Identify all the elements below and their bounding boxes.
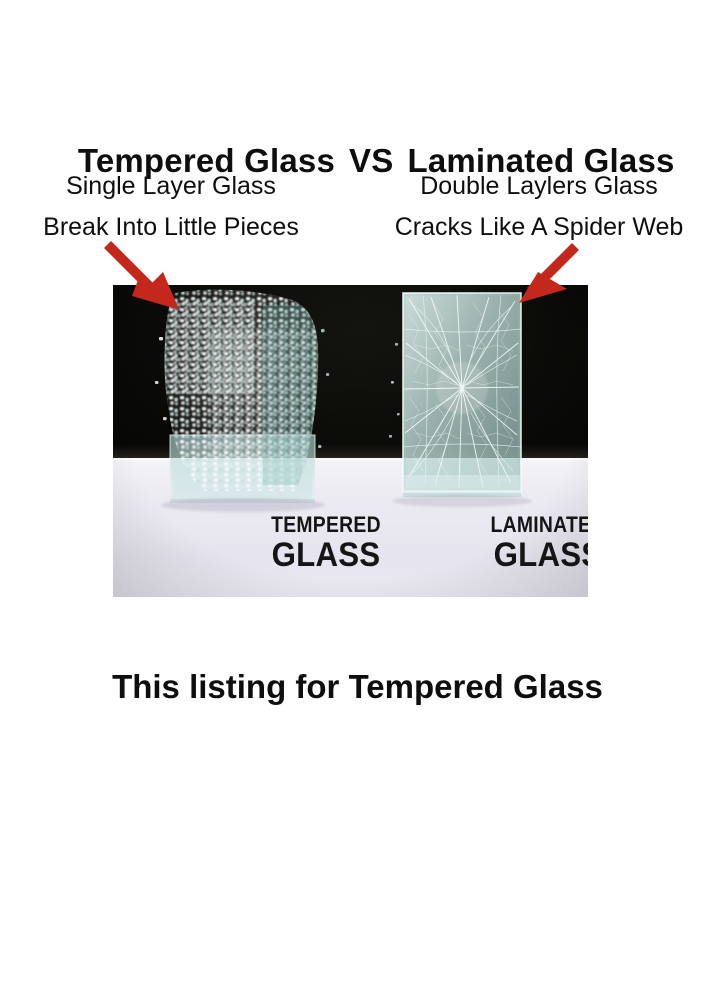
photo-caption-laminated-big: GLASS xyxy=(459,538,588,572)
laminated-loose-specks xyxy=(389,343,400,438)
infographic-page: Tempered GlassVSLaminated Glass Single L… xyxy=(0,0,715,1002)
right-description-line-1: Double Laylers Glass xyxy=(365,166,713,207)
photo-caption-tempered-big: GLASS xyxy=(240,538,411,572)
left-description-line-2: Break Into Little Pieces xyxy=(6,207,336,248)
photo-caption-tempered: TEMPERED GLASS xyxy=(233,513,419,572)
comparison-photo: TEMPERED GLASS LAMINATED GLASS xyxy=(113,285,588,597)
footer-note: This listing for Tempered Glass xyxy=(0,668,715,706)
right-description-block: Double Laylers Glass Cracks Like A Spide… xyxy=(365,166,713,247)
laminated-glass-pane xyxy=(392,293,532,507)
left-description-block: Single Layer Glass Break Into Little Pie… xyxy=(6,166,336,247)
photo-caption-laminated: LAMINATED GLASS xyxy=(451,513,588,572)
left-description-line-1: Single Layer Glass xyxy=(6,166,336,207)
photo-caption-laminated-small: LAMINATED xyxy=(463,513,588,536)
right-description-line-2: Cracks Like A Spider Web xyxy=(365,207,713,248)
photo-caption-tempered-small: TEMPERED xyxy=(244,513,408,536)
